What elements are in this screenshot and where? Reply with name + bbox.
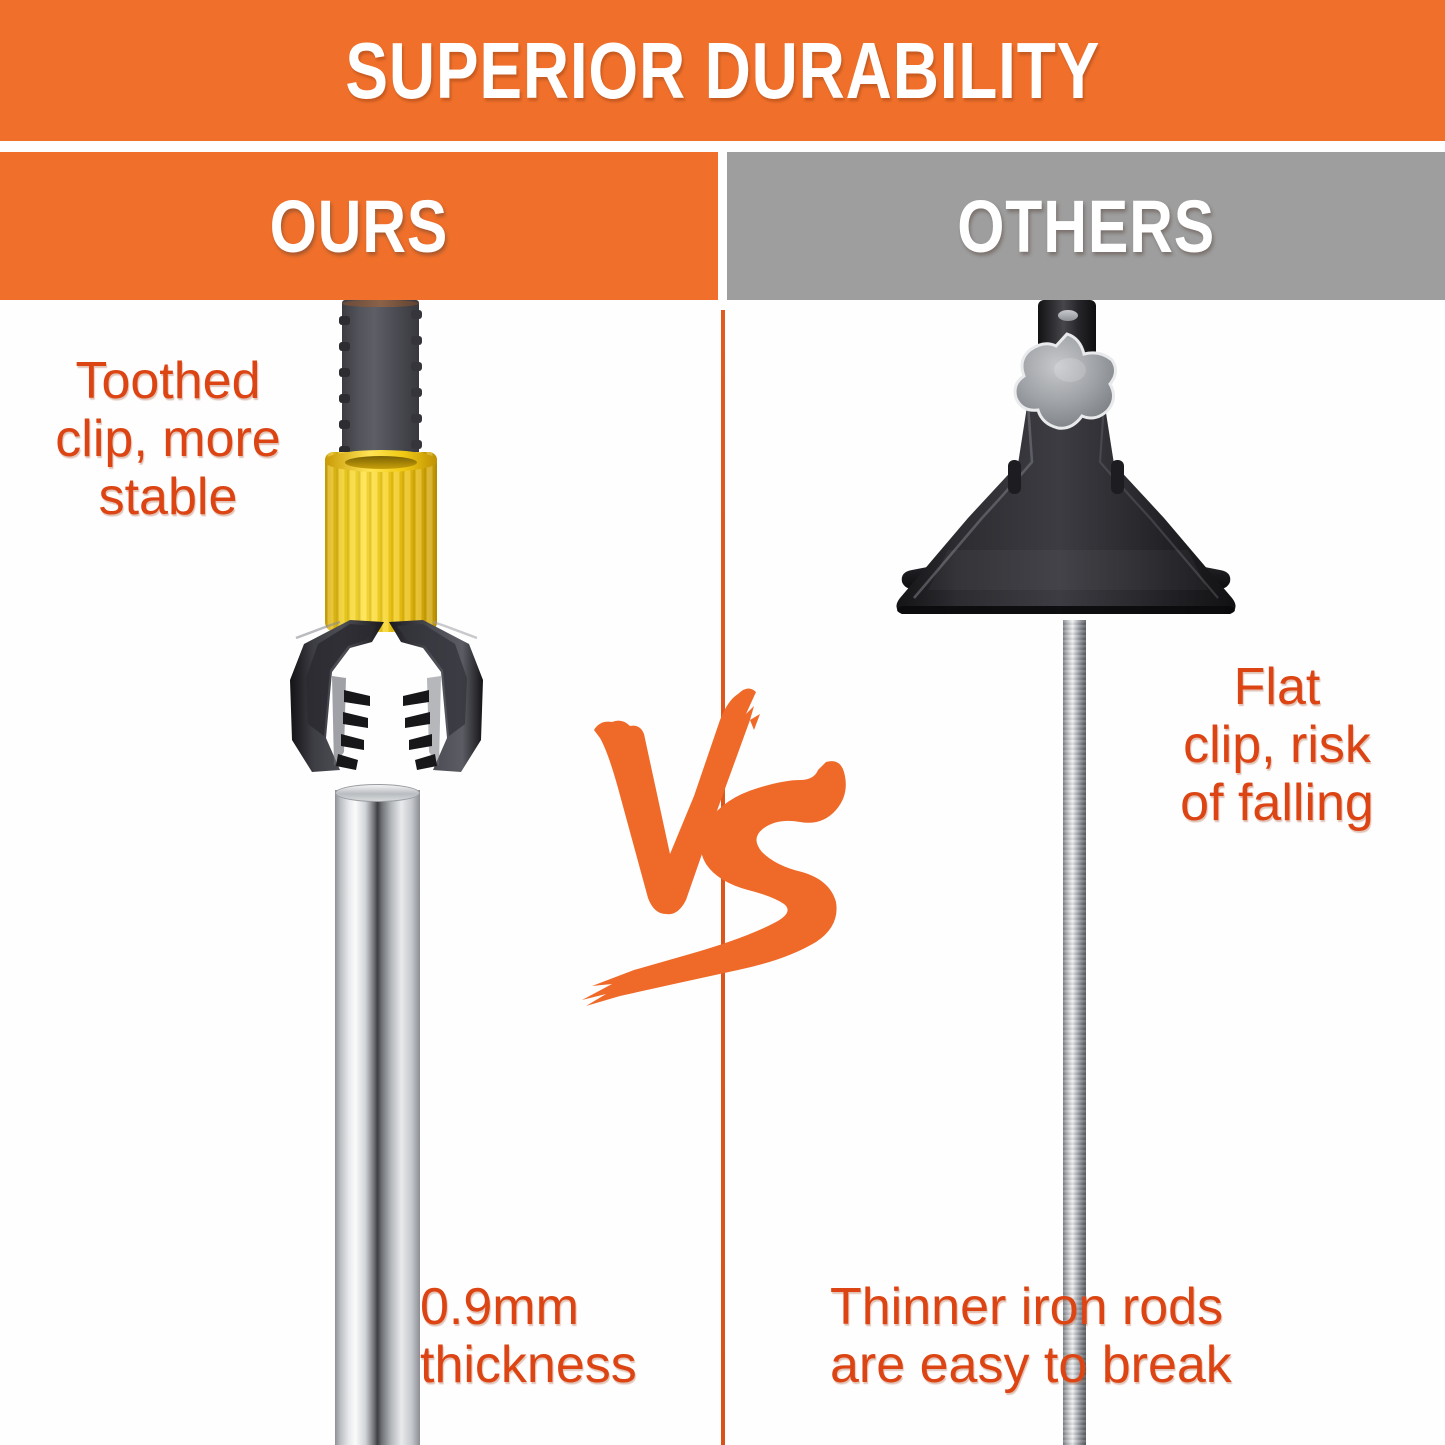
yellow-collar	[325, 452, 437, 632]
star-knob[interactable]	[1008, 330, 1126, 442]
infographic-canvas: SUPERIOR DURABILITY OURS OTHERS	[0, 0, 1445, 1445]
caption-flat-clip: Flat clip, risk of falling	[1112, 658, 1442, 833]
gray-ribbed-shaft	[342, 300, 419, 472]
header-banner: SUPERIOR DURABILITY	[0, 0, 1445, 141]
chrome-pole-cap	[335, 784, 420, 802]
ours-label: OURS	[270, 184, 449, 269]
toothed-jaw-right	[377, 620, 485, 775]
caption-thinner-rods: Thinner iron rods are easy to break	[830, 1278, 1350, 1394]
shaft-top-cap	[342, 300, 419, 307]
column-header-others: OTHERS	[727, 152, 1445, 300]
versus-icon	[578, 676, 858, 1026]
collar-inner-bore	[345, 456, 417, 469]
column-header-ours: OURS	[0, 152, 718, 300]
caption-toothed-clip: Toothed clip, more stable	[8, 352, 328, 527]
caption-thickness: 0.9mm thickness	[420, 1278, 720, 1394]
page-title: SUPERIOR DURABILITY	[345, 25, 1100, 117]
others-label: OTHERS	[957, 184, 1215, 269]
thick-chrome-pole	[335, 790, 420, 1445]
others-shaft-rivet	[1058, 310, 1078, 321]
